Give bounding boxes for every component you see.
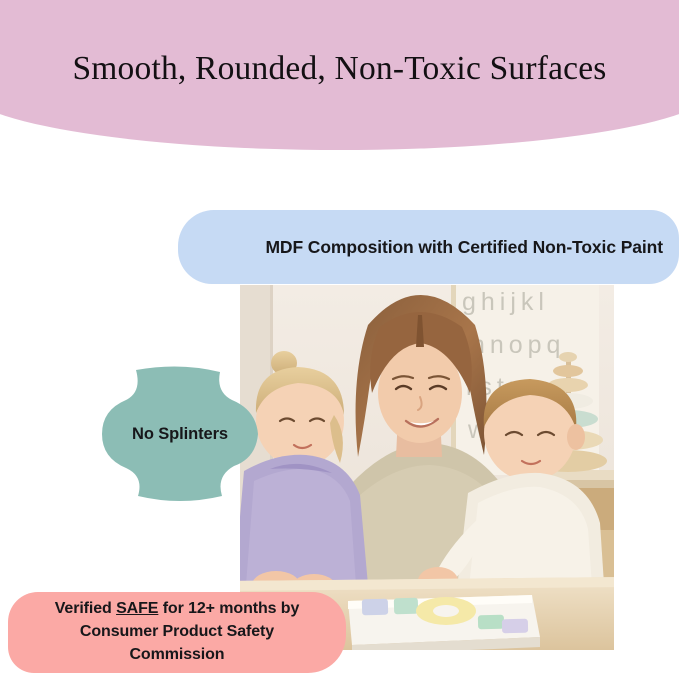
callout-verified-safe: Verified SAFE for 12+ months by Consumer… — [8, 592, 346, 673]
header-banner: Smooth, Rounded, Non-Toxic Surfaces — [0, 0, 679, 152]
callout-verified-safe-label: Verified SAFE for 12+ months by Consumer… — [55, 598, 300, 666]
page-title: Smooth, Rounded, Non-Toxic Surfaces — [0, 0, 679, 138]
verified-line-2: Consumer Product Safety — [80, 623, 274, 640]
callout-mdf-composition: MDF Composition with Certified Non-Toxic… — [178, 210, 679, 284]
verified-prefix: Verified — [55, 600, 116, 617]
callout-mdf-composition-label: MDF Composition with Certified Non-Toxic… — [265, 237, 663, 258]
svg-text:ghijkl: ghijkl — [462, 288, 549, 316]
verified-suffix: for 12+ months by — [158, 600, 299, 617]
safe-underlined: SAFE — [116, 600, 158, 617]
verified-line-3: Commission — [129, 646, 224, 663]
callout-no-splinters-label: No Splinters — [100, 366, 260, 502]
callout-no-splinters: No Splinters — [100, 366, 260, 502]
